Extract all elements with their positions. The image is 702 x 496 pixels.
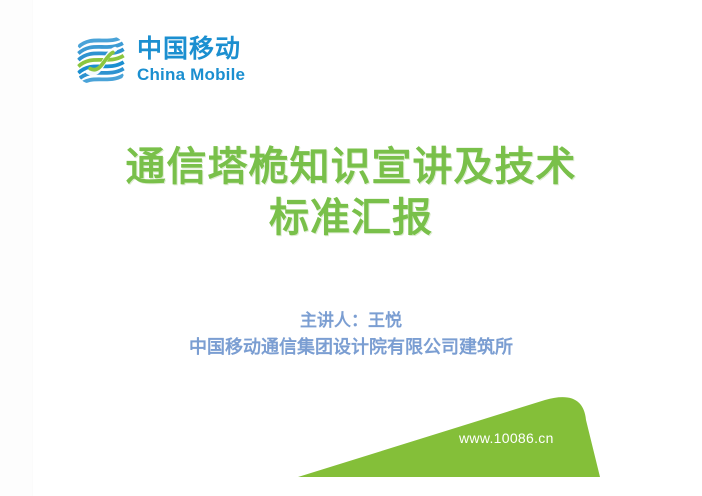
slide-title-line-1: 通信塔桅知识宣讲及技术: [0, 142, 702, 193]
presenter-block: 主讲人：王悦 中国移动通信集团设计院有限公司建筑所: [0, 308, 702, 362]
china-mobile-wave-logo-icon: [74, 33, 128, 87]
slide-title-line-2: 标准汇报: [0, 193, 702, 244]
page-edge: [0, 0, 33, 496]
footer-url: www.10086.cn: [459, 430, 554, 446]
slide-title: 通信塔桅知识宣讲及技术 标准汇报: [0, 142, 702, 244]
brand-wordmark: 中国移动 China Mobile: [137, 37, 245, 83]
brand-name-cn: 中国移动: [137, 37, 245, 62]
title-slide: 中国移动 China Mobile 通信塔桅知识宣讲及技术 标准汇报 主讲人：王…: [0, 0, 702, 496]
presenter-name: 主讲人：王悦: [0, 308, 702, 334]
brand-name-en: China Mobile: [137, 66, 245, 83]
brand-logo-block: 中国移动 China Mobile: [74, 33, 245, 87]
presenter-organization: 中国移动通信集团设计院有限公司建筑所: [0, 334, 702, 362]
